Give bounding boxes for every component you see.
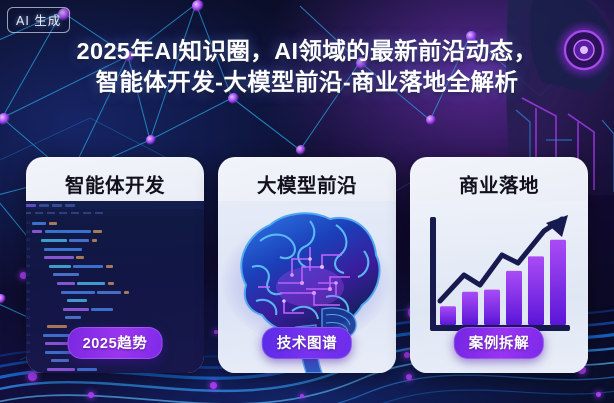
- network-node: [426, 115, 436, 125]
- card-title-large-model-frontier: 大模型前沿: [218, 157, 396, 198]
- pill-case-breakdown[interactable]: 案例拆解: [454, 327, 544, 359]
- network-node: [0, 113, 10, 125]
- particle: [210, 382, 217, 389]
- network-node: [146, 135, 156, 145]
- card-agent-development[interactable]: 3132333435 3637383940 4142434445 464748: [26, 157, 204, 373]
- pill-2025-trend[interactable]: 2025趋势: [68, 327, 163, 359]
- particle: [596, 392, 601, 397]
- network-node: [296, 145, 306, 155]
- card-large-model-frontier[interactable]: 大模型前沿 技术图谱: [218, 157, 396, 373]
- pill-tech-map[interactable]: 技术图谱: [262, 327, 352, 359]
- bar: [506, 271, 522, 325]
- card-title-agent-development: 智能体开发: [26, 157, 204, 198]
- network-node: [192, 0, 204, 12]
- poster-canvas: AI 生成 2025年AI知识圈，AI领域的最新前沿动态， 智能体开发-大模型前…: [0, 0, 614, 403]
- title-line-1: 2025年AI知识圈，AI领域的最新前沿动态，: [77, 38, 538, 64]
- bar: [462, 292, 478, 325]
- bar: [484, 290, 500, 325]
- page-title: 2025年AI知识圈，AI领域的最新前沿动态， 智能体开发-大模型前沿-商业落地…: [0, 36, 614, 99]
- particle: [300, 394, 304, 398]
- title-line-2: 智能体开发-大模型前沿-商业落地全解析: [14, 67, 600, 98]
- particle: [88, 392, 94, 398]
- card-business-implementation[interactable]: 商业落地 案例拆解: [410, 157, 588, 373]
- bar: [550, 240, 566, 325]
- card-row: 3132333435 3637383940 4142434445 464748: [0, 157, 614, 375]
- card-title-business-implementation: 商业落地: [410, 157, 588, 198]
- bar: [440, 306, 456, 325]
- ai-generated-badge: AI 生成: [7, 7, 70, 33]
- bar: [528, 256, 544, 325]
